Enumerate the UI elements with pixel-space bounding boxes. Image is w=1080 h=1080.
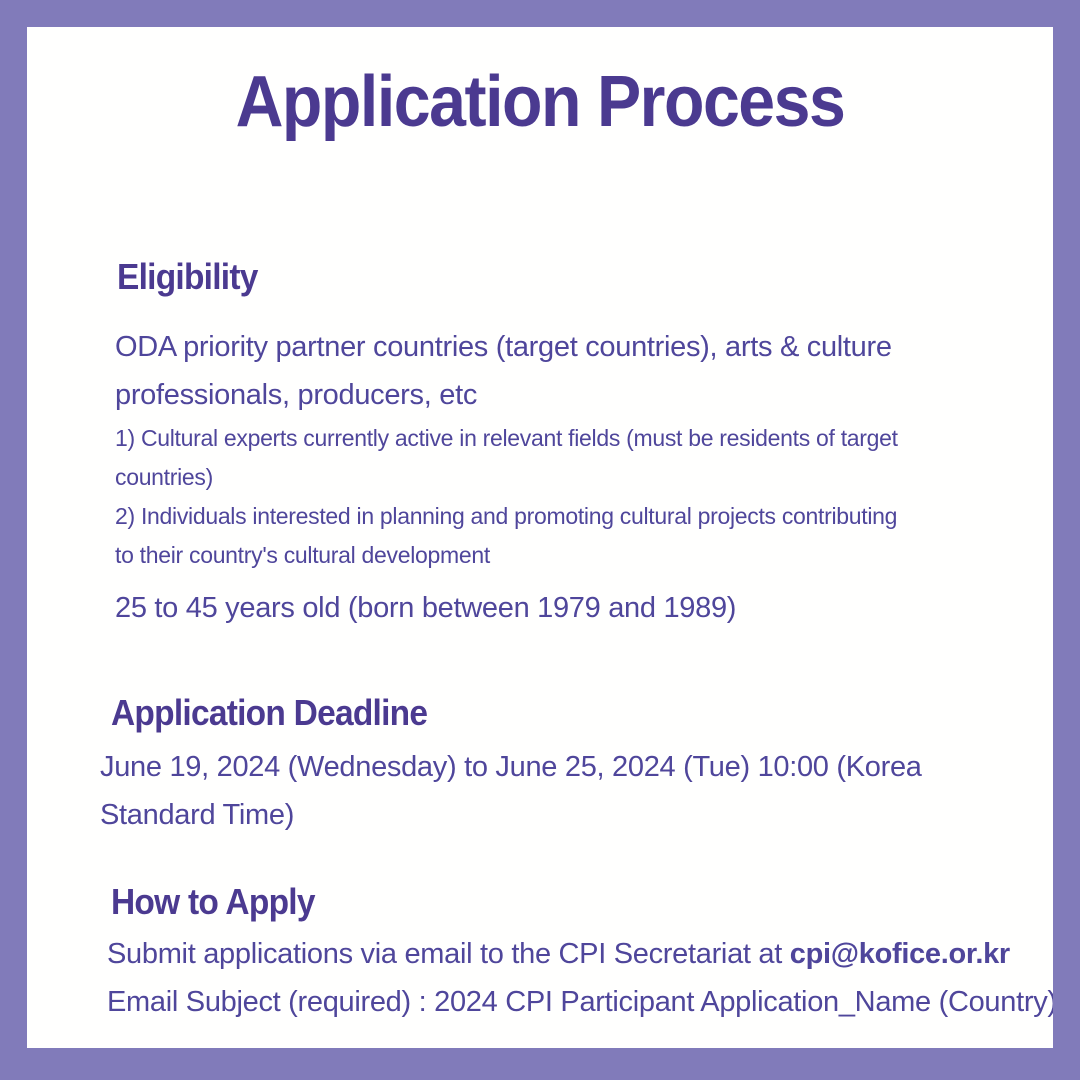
eligibility-item-1: 1) Cultural experts currently active in … bbox=[115, 419, 905, 497]
apply-submit-line: Submit applications via email to the CPI… bbox=[107, 930, 1053, 978]
deadline-text: June 19, 2024 (Wednesday) to June 25, 20… bbox=[100, 743, 960, 839]
apply-email-subject-line: Email Subject (required) : 2024 CPI Part… bbox=[107, 978, 1053, 1026]
apply-email-address[interactable]: cpi@kofice.or.kr bbox=[790, 938, 1010, 970]
section-eligibility: Eligibility ODA priority partner countri… bbox=[27, 255, 1053, 632]
eligibility-item-2: 2) Individuals interested in planning an… bbox=[115, 497, 905, 575]
eligibility-intro: ODA priority partner countries (target c… bbox=[115, 323, 945, 419]
how-to-apply-heading: How to Apply bbox=[111, 880, 987, 924]
content-card: Application Process Eligibility ODA prio… bbox=[27, 27, 1053, 1048]
section-deadline: Application Deadline June 19, 2024 (Wedn… bbox=[27, 691, 1053, 839]
eligibility-heading: Eligibility bbox=[117, 255, 987, 299]
eligibility-age-requirement: 25 to 45 years old (born between 1979 an… bbox=[115, 584, 1053, 632]
deadline-heading: Application Deadline bbox=[111, 691, 987, 735]
page-title: Application Process bbox=[68, 63, 1012, 141]
apply-submit-prefix: Submit applications via email to the CPI… bbox=[107, 938, 790, 970]
section-how-to-apply: How to Apply Submit applications via ema… bbox=[27, 880, 1053, 1026]
poster-frame: Application Process Eligibility ODA prio… bbox=[0, 0, 1080, 1080]
